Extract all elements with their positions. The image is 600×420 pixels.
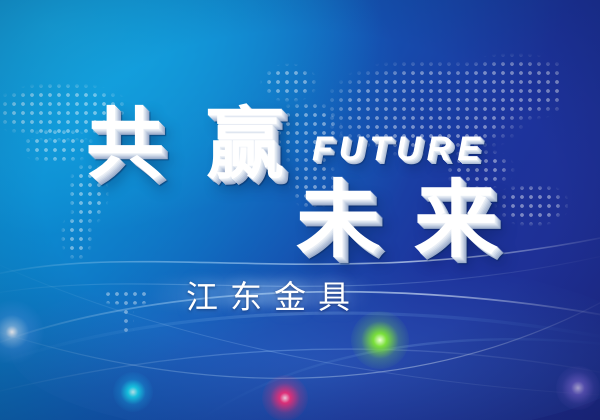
headline-stage: 共 赢 FUTURE 未 来 江东金具 <box>0 0 600 420</box>
headline-char-gong: 共 <box>86 106 164 184</box>
headline-char-ying: 赢 <box>206 106 284 184</box>
headline-char-wei: 未 <box>296 178 380 262</box>
latin-word-future: FUTURE <box>312 130 486 169</box>
headline-line-2: 未 来 <box>296 178 498 262</box>
promo-banner: 共 赢 FUTURE 未 来 江东金具 <box>0 0 600 420</box>
headline-char-lai: 来 <box>414 178 498 262</box>
company-subtitle: 江东金具 <box>186 272 362 318</box>
headline-line-1: 共 赢 <box>86 106 284 184</box>
